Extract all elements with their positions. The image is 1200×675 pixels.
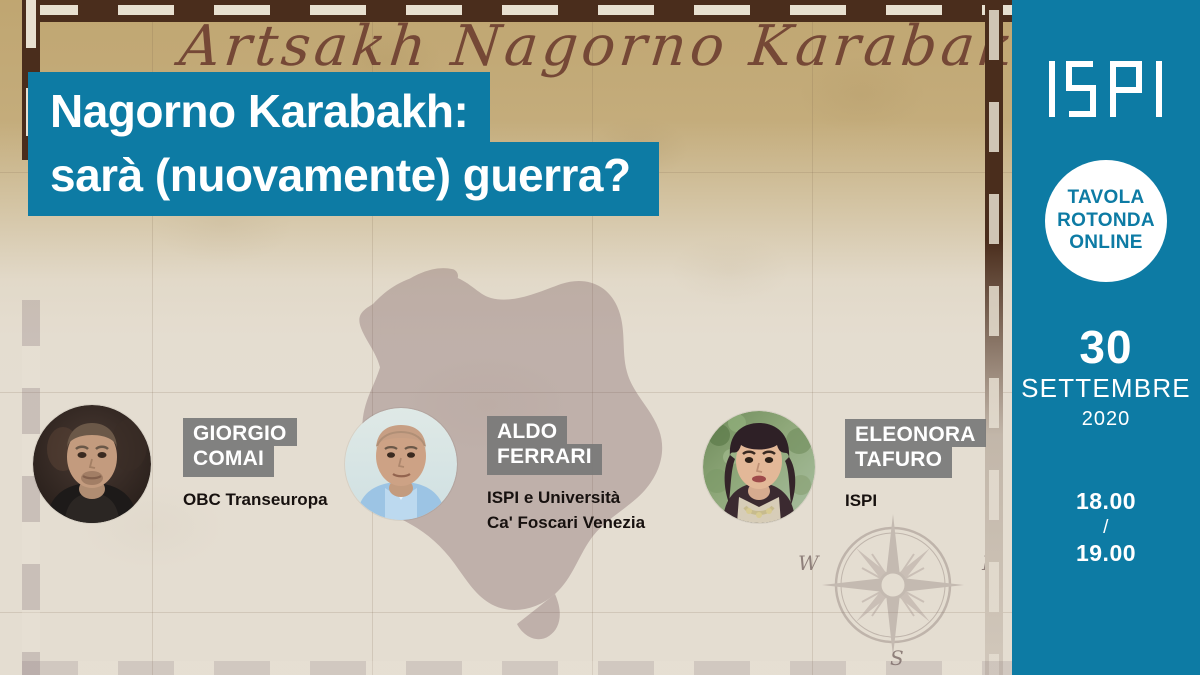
map-frame-top: [22, 0, 1014, 22]
speaker-card-giorgio-comai: GIORGIO COMAI OBC Transeuropa: [33, 405, 328, 523]
speaker-name-line-1: GIORGIO: [183, 418, 297, 446]
compass-label-west: W: [798, 551, 819, 575]
map-frame-right-fade: [985, 240, 1003, 675]
avatar-eleonora-tafuro: [703, 411, 815, 523]
speaker-name-line-2: FERRARI: [487, 444, 602, 475]
event-format-line-3: ONLINE: [1069, 232, 1143, 254]
avatar-aldo-ferrari: [345, 408, 457, 520]
event-format-line-1: TAVOLA: [1067, 187, 1144, 209]
speaker-affiliation-line-1: ISPI: [845, 490, 877, 513]
event-time: 18.00 / 19.00: [1076, 487, 1136, 568]
speaker-text-eleonora-tafuro: ELEONORA TAFURO ISPI: [845, 419, 986, 513]
speaker-card-aldo-ferrari: ALDO FERRARI ISPI e Università Ca' Fosca…: [345, 408, 645, 535]
map-frame-bottom-faded: [22, 661, 1014, 675]
speaker-name-line-2: COMAI: [183, 446, 274, 477]
speaker-name-line-1: ALDO: [487, 416, 567, 444]
speaker-affiliation-line-1: ISPI e Università: [487, 487, 620, 510]
map-handwritten-title: Artsakh Nagorno Karabakh: [177, 14, 904, 79]
compass-rose-icon: [818, 510, 968, 660]
event-format-badge: TAVOLA ROTONDA ONLINE: [1045, 160, 1167, 282]
speaker-affiliation-line-2: Ca' Foscari Venezia: [487, 512, 645, 535]
event-time-separator: /: [1076, 516, 1136, 540]
event-time-end: 19.00: [1076, 539, 1136, 568]
event-title-line-1: Nagorno Karabakh:: [28, 72, 490, 142]
event-date-day: 30: [1021, 324, 1191, 370]
event-date-month: SETTEMBRE: [1021, 374, 1191, 404]
speaker-name-line-1: ELEONORA: [845, 419, 986, 447]
speaker-text-aldo-ferrari: ALDO FERRARI ISPI e Università Ca' Fosca…: [487, 416, 645, 535]
event-poster: Artsakh Nagorno Karabakh: [0, 0, 1200, 675]
event-title: Nagorno Karabakh: sarà (nuovamente) guer…: [28, 72, 659, 216]
speaker-name-line-2: TAFURO: [845, 447, 952, 478]
speaker-text-giorgio-comai: GIORGIO COMAI OBC Transeuropa: [183, 418, 328, 512]
speaker-card-eleonora-tafuro: ELEONORA TAFURO ISPI: [703, 411, 986, 523]
event-date: 30 SETTEMBRE 2020: [1021, 324, 1191, 431]
ispi-logo-icon: [1047, 58, 1165, 120]
sidebar: TAVOLA ROTONDA ONLINE 30 SETTEMBRE 2020 …: [1012, 0, 1200, 675]
event-time-start: 18.00: [1076, 487, 1136, 516]
event-format-line-2: ROTONDA: [1057, 210, 1155, 232]
event-title-line-2: sarà (nuovamente) guerra?: [28, 142, 659, 216]
speaker-affiliation-line-1: OBC Transeuropa: [183, 489, 328, 512]
event-date-year: 2020: [1021, 407, 1191, 431]
avatar-giorgio-comai: [33, 405, 151, 523]
